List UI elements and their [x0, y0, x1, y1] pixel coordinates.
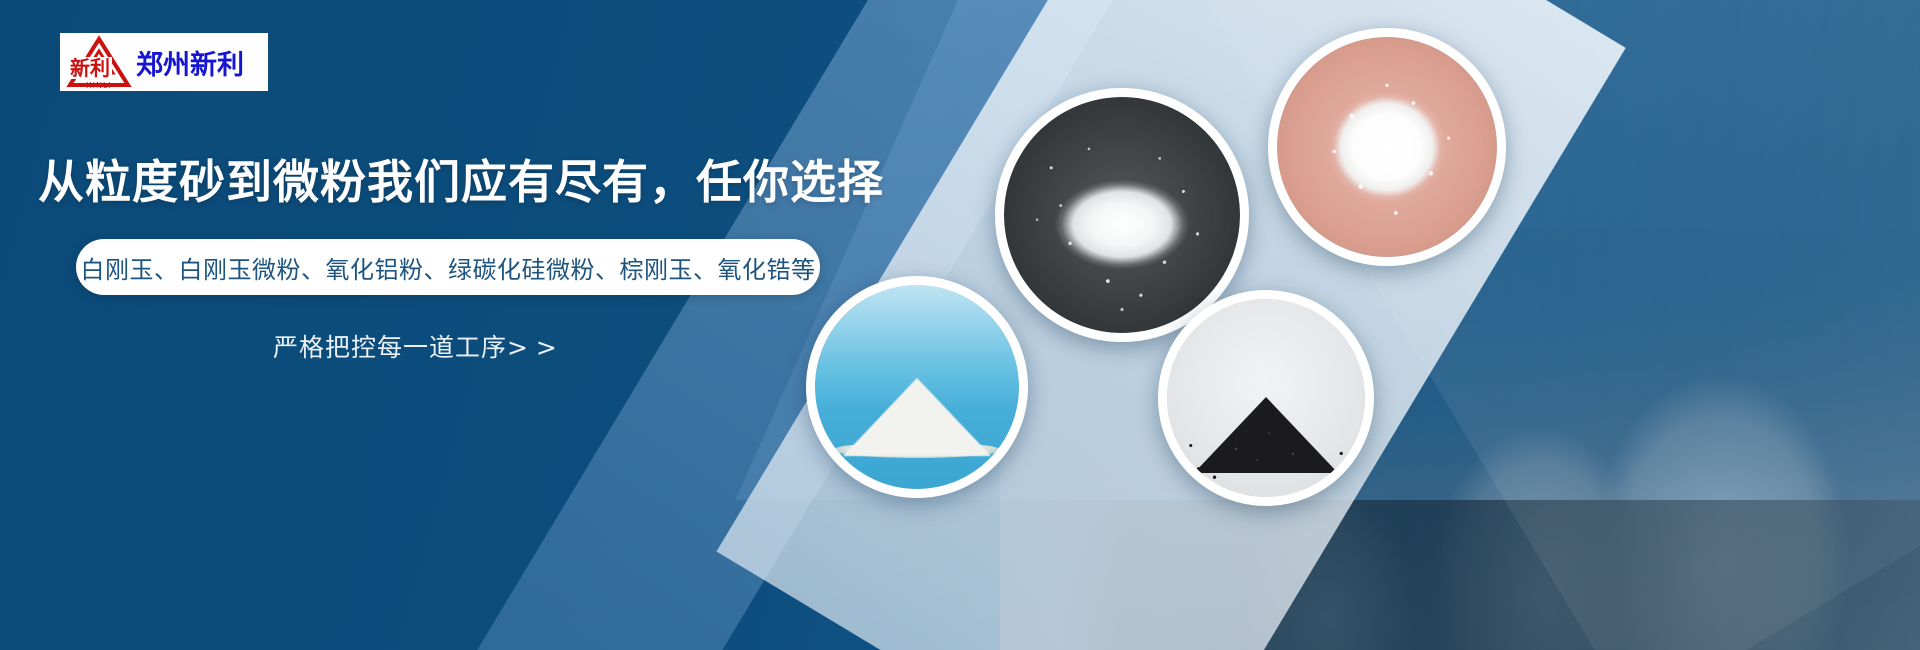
xinli-triangle-icon: 新利 XINLI [66, 35, 132, 89]
powder-speck-texture [1277, 37, 1497, 257]
sand-grain-texture [1004, 97, 1240, 333]
product-image-white-powder[interactable] [1268, 28, 1506, 266]
page-title: 从粒度砂到微粉我们应有尽有，任你选择 [38, 146, 884, 212]
powder-pile-cone [843, 378, 991, 456]
quality-caption-link[interactable]: 严格把控每一道工序> > [273, 328, 557, 364]
company-logo[interactable]: 新利 XINLI 郑州新利 [60, 33, 268, 91]
promo-banner: 新利 XINLI 郑州新利 从粒度砂到微粉我们应有尽有，任你选择 白刚玉、白刚玉… [0, 0, 1920, 650]
svg-text:新利: 新利 [70, 56, 110, 80]
caption-text: 严格把控每一道工序 [273, 333, 507, 362]
logo-company-name: 郑州新利 [136, 43, 244, 82]
grit-scatter-specks [1167, 299, 1365, 497]
product-image-black-grit[interactable] [1158, 290, 1374, 506]
product-list-pill[interactable]: 白刚玉、白刚玉微粉、氧化铝粉、绿碳化硅微粉、棕刚玉、氧化锆等 [76, 239, 820, 295]
product-list-text: 白刚玉、白刚玉微粉、氧化铝粉、绿碳化硅微粉、棕刚玉、氧化锆等 [81, 250, 816, 285]
product-image-alumina-powder[interactable] [806, 276, 1028, 498]
svg-text:XINLI: XINLI [86, 81, 112, 89]
caption-arrows-icon: > > [507, 333, 557, 362]
